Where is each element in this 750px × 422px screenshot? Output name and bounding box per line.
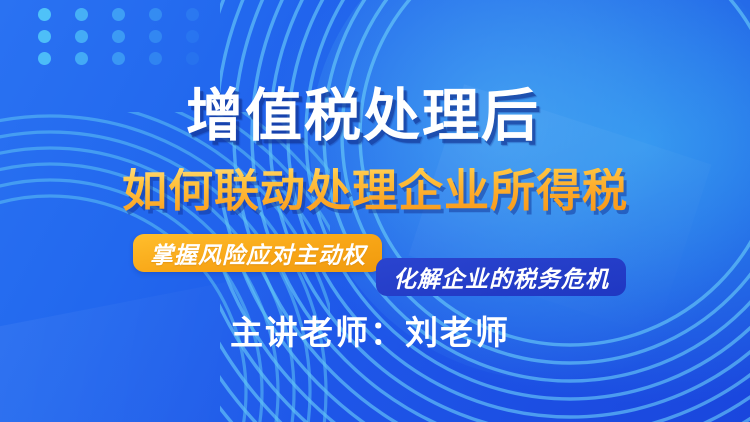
course-poster: 增值税处理后 如何联动处理企业所得税 掌握风险应对主动权 化解企业的税务危机 主… [0,0,750,422]
badge-orange-label: 掌握风险应对主动权 [150,236,366,270]
badge-blue-label: 化解企业的税务危机 [393,260,609,294]
badge-risk-initiative: 掌握风险应对主动权 [133,234,382,272]
page-subtitle: 如何联动处理企业所得税 [0,168,750,213]
page-title: 增值税处理后 [0,88,750,145]
badge-row: 掌握风险应对主动权 化解企业的税务危机 [0,234,750,298]
presenter-line: 主讲老师：刘老师 [0,306,750,354]
badge-tax-crisis: 化解企业的税务危机 [376,258,626,296]
